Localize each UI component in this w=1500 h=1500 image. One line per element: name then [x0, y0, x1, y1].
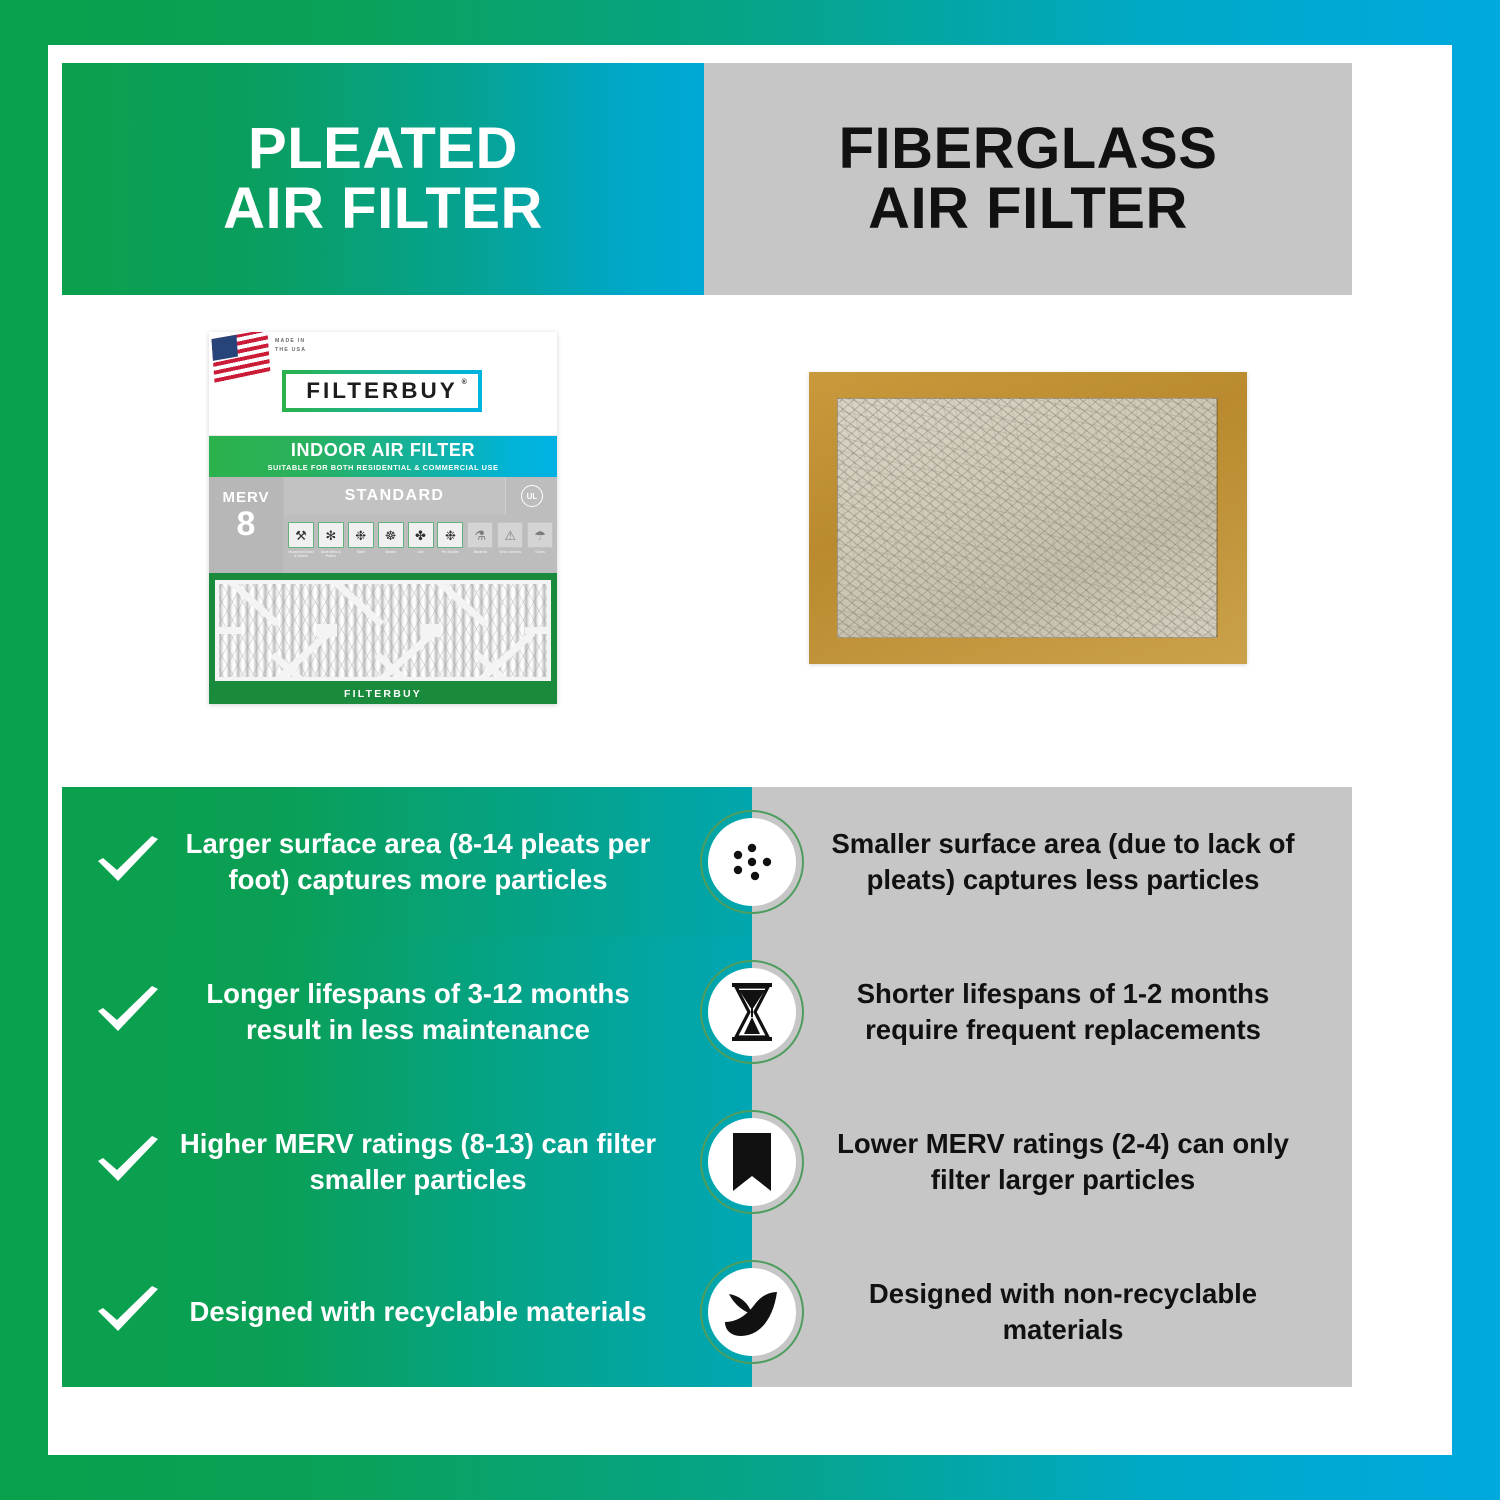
web-diagonal-9	[427, 580, 488, 627]
package-capability-item: ✻Dust Mites & Pollen	[317, 522, 345, 558]
package-capability-item: ✤Lint	[407, 522, 435, 554]
capability-icon: ✻	[318, 522, 344, 548]
header-fiberglass-line2: AIR FILTER	[868, 176, 1188, 241]
check-icon	[88, 1123, 166, 1201]
header-pleated: PLEATED AIR FILTER	[62, 63, 704, 295]
package-capability-item: ⚗Bacteria	[466, 522, 494, 554]
capability-caption: Pet Dander	[442, 550, 459, 554]
capability-icon: ⚒	[288, 522, 314, 548]
comparison-fiberglass-text: Smaller surface area (due to lack of ple…	[818, 826, 1308, 899]
capability-icon: ⚠	[497, 522, 523, 548]
products-row: MADE IN THE USA FILTERBUY ® INDOOR AIR F…	[62, 318, 1352, 718]
package-brand-name: FILTERBUY	[306, 378, 458, 403]
comparison-pleated-text: Higher MERV ratings (8-13) can filter sm…	[170, 1126, 752, 1199]
capability-caption: Smoke	[385, 550, 396, 554]
comparison-cell-pleated: Longer lifespans of 3-12 months result i…	[62, 937, 752, 1087]
check-icon	[88, 973, 166, 1051]
capability-icon: ☂	[527, 522, 553, 548]
package-logo-box: FILTERBUY ®	[282, 370, 482, 412]
pleated-filter-package-image: MADE IN THE USA FILTERBUY ® INDOOR AIR F…	[209, 332, 557, 704]
comparison-icon-badge	[700, 1110, 804, 1214]
package-brand-logo: FILTERBUY ®	[306, 378, 458, 404]
capability-icon: ❉	[437, 522, 463, 548]
package-capability-item: ❉Pet Dander	[436, 522, 464, 554]
leaf-icon	[708, 1268, 796, 1356]
capability-icon: ⚗	[467, 522, 493, 548]
comparison-cell-fiberglass: Lower MERV ratings (2-4) can only filter…	[752, 1087, 1352, 1237]
capability-caption: Dust Mites & Pollen	[317, 550, 345, 558]
comparison-pleated-text: Larger surface area (8-14 pleats per foo…	[170, 826, 752, 899]
comparison-cell-pleated: Larger surface area (8-14 pleats per foo…	[62, 787, 752, 937]
made-in-line1: MADE IN	[275, 338, 305, 344]
package-made-in-usa-text: MADE IN THE USA	[275, 337, 306, 355]
comparison-row: Larger surface area (8-14 pleats per foo…	[62, 787, 1352, 937]
package-top-band: MADE IN THE USA FILTERBUY ®	[209, 332, 557, 436]
comparison-cell-fiberglass: Shorter lifespans of 1-2 months require …	[752, 937, 1352, 1087]
pleated-media-pattern	[215, 580, 551, 681]
package-capability-icon-strip: ⚒Household Dust & Debris✻Dust Mites & Po…	[284, 517, 557, 573]
header-pleated-title: PLEATED AIR FILTER	[223, 119, 543, 240]
package-capability-item: ☂Odors	[526, 522, 554, 554]
comparison-table: Larger surface area (8-14 pleats per foo…	[62, 787, 1352, 1387]
comparison-icon-badge	[700, 1260, 804, 1364]
web-diagonal-1	[219, 580, 280, 627]
comparison-cell-pleated: Higher MERV ratings (8-13) can filter sm…	[62, 1087, 752, 1237]
capability-icon: ☸	[378, 522, 404, 548]
header-fiberglass-line1: FIBERGLASS	[839, 116, 1218, 181]
package-capability-item: ☸Smoke	[377, 522, 405, 554]
comparison-cell-pleated: Designed with recyclable materials	[62, 1237, 752, 1387]
comparison-pleated-text: Longer lifespans of 3-12 months result i…	[170, 976, 752, 1049]
comparison-row: Higher MERV ratings (8-13) can filter sm…	[62, 1087, 1352, 1237]
capability-caption: Household Dust & Debris	[287, 550, 315, 558]
flag-canton	[211, 335, 237, 361]
comparison-row: Designed with recyclable materialsDesign…	[62, 1237, 1352, 1387]
usa-flag-icon	[211, 332, 270, 385]
header-row: PLEATED AIR FILTER FIBERGLASS AIR FILTER	[62, 63, 1352, 295]
web-mid-left	[215, 627, 241, 634]
package-filter-window: FILTERBUY	[209, 573, 557, 704]
header-fiberglass: FIBERGLASS AIR FILTER	[704, 63, 1352, 295]
capability-icon: ✤	[408, 522, 434, 548]
capability-caption: Lint	[417, 550, 423, 554]
package-merv-value: 8	[209, 508, 283, 540]
comparison-icon-badge	[700, 810, 804, 914]
package-green-band: INDOOR AIR FILTER SUITABLE FOR BOTH RESI…	[209, 436, 557, 477]
comparison-fiberglass-text: Shorter lifespans of 1-2 months require …	[818, 976, 1308, 1049]
package-merv-label: MERV	[209, 489, 283, 506]
web-bar-top	[215, 580, 551, 584]
package-band-title: INDOOR AIR FILTER	[209, 440, 557, 461]
header-pleated-line1: PLEATED	[248, 116, 518, 181]
capability-icon: ❉	[348, 522, 374, 548]
package-grade-cell: STANDARD	[284, 477, 506, 515]
package-certification-cell: UL	[507, 477, 557, 515]
comparison-cell-fiberglass: Designed with non-recyclable materials	[752, 1237, 1352, 1387]
infographic-root: PLEATED AIR FILTER FIBERGLASS AIR FILTER…	[0, 0, 1500, 1500]
check-icon	[88, 1273, 166, 1351]
package-grade-label: STANDARD	[345, 487, 445, 505]
package-band-subtitle: SUITABLE FOR BOTH RESIDENTIAL & COMMERCI…	[209, 463, 557, 472]
comparison-row: Longer lifespans of 3-12 months result i…	[62, 937, 1352, 1087]
registered-trademark-icon: ®	[462, 379, 467, 386]
package-capability-item: ❉Mold	[347, 522, 375, 554]
capability-caption: Bacteria	[474, 550, 487, 554]
product-cell-fiberglass	[704, 318, 1352, 718]
web-diagonal-5	[323, 580, 384, 627]
hourglass-icon	[708, 968, 796, 1056]
comparison-fiberglass-text: Lower MERV ratings (2-4) can only filter…	[818, 1126, 1308, 1199]
package-merv-cell: MERV 8	[209, 477, 283, 573]
package-spec-bar: MERV 8 STANDARD UL ⚒Household Dust & Deb…	[209, 477, 557, 573]
capability-caption: Virus Carriers	[499, 550, 521, 554]
comparison-icon-badge	[700, 960, 804, 1064]
capability-caption: Mold	[357, 550, 365, 554]
particles-icon	[708, 818, 796, 906]
bookmark-icon	[708, 1118, 796, 1206]
fiberglass-media-pattern	[837, 398, 1217, 638]
capability-caption: Odors	[535, 550, 545, 554]
fiberglass-frame-seam	[1217, 398, 1218, 638]
package-capability-item: ⚠Virus Carriers	[496, 522, 524, 554]
header-fiberglass-title: FIBERGLASS AIR FILTER	[839, 119, 1218, 240]
package-bottom-brand: FILTERBUY	[215, 688, 551, 700]
product-cell-pleated: MADE IN THE USA FILTERBUY ® INDOOR AIR F…	[62, 318, 704, 718]
fiberglass-filter-image	[809, 372, 1247, 664]
package-capability-item: ⚒Household Dust & Debris	[287, 522, 315, 558]
comparison-pleated-text: Designed with recyclable materials	[170, 1294, 752, 1330]
check-icon	[88, 823, 166, 901]
header-pleated-line2: AIR FILTER	[223, 176, 543, 241]
made-in-line2: THE USA	[275, 347, 306, 353]
comparison-fiberglass-text: Designed with non-recyclable materials	[818, 1276, 1308, 1349]
comparison-cell-fiberglass: Smaller surface area (due to lack of ple…	[752, 787, 1352, 937]
ul-certification-icon: UL	[521, 485, 543, 507]
